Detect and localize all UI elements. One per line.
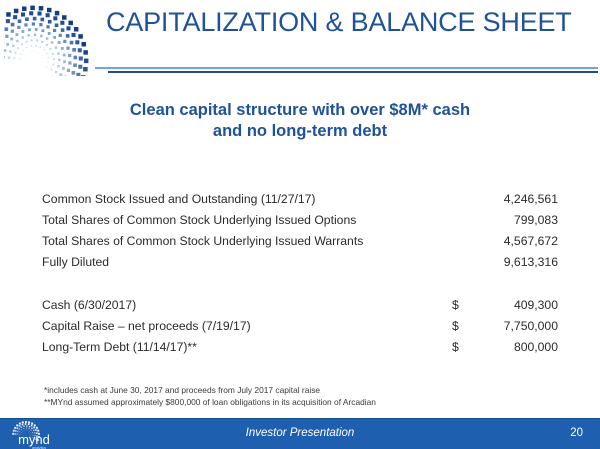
table-row: Long-Term Debt (11/14/17)** $ 800,000 [42, 340, 558, 361]
footnote-line-2: **MYnd assumed approximately $800,000 of… [44, 397, 514, 409]
row-label: Cash (6/30/2017) [42, 298, 452, 312]
row-value: 800,000 [474, 340, 558, 354]
row-label: Total Shares of Common Stock Underlying … [42, 213, 452, 227]
title-rule-light [95, 67, 598, 69]
slide-footer: mynd analytics Investor Presentation 20 [0, 418, 600, 449]
footer-title: Investor Presentation [0, 427, 600, 439]
mynd-fan-logo-icon [4, 2, 96, 76]
slide-subtitle: Clean capital structure with over $8M* c… [60, 100, 540, 142]
page-title: CAPITALIZATION & BALANCE SHEET [106, 6, 586, 39]
row-label: Common Stock Issued and Outstanding (11/… [42, 192, 452, 206]
row-label: Capital Raise – net proceeds (7/19/17) [42, 319, 452, 333]
row-label: Total Shares of Common Stock Underlying … [42, 234, 452, 248]
footnote-line-1: *includes cash at June 30, 2017 and proc… [44, 385, 514, 397]
row-value: 9,613,316 [474, 255, 558, 269]
row-currency: $ [452, 319, 474, 333]
table-row: Cash (6/30/2017) $ 409,300 [42, 298, 558, 319]
footnotes: *includes cash at June 30, 2017 and proc… [44, 385, 514, 408]
row-value: 4,246,561 [474, 192, 558, 206]
capitalization-table: Common Stock Issued and Outstanding (11/… [42, 192, 558, 361]
row-label: Fully Diluted [42, 255, 452, 269]
subtitle-line-2: and no long-term debt [60, 121, 540, 142]
row-label: Long-Term Debt (11/14/17)** [42, 340, 452, 354]
row-currency: $ [452, 298, 474, 312]
row-value: 799,083 [474, 213, 558, 227]
table-row: Total Shares of Common Stock Underlying … [42, 234, 558, 255]
table-row: Capital Raise – net proceeds (7/19/17) $… [42, 319, 558, 340]
row-value: 4,567,672 [474, 234, 558, 248]
row-value: 7,750,000 [474, 319, 558, 333]
table-row: Common Stock Issued and Outstanding (11/… [42, 192, 558, 213]
title-rule-dark [108, 71, 598, 73]
table-group-separator [42, 276, 558, 298]
row-currency: $ [452, 340, 474, 354]
page-number: 20 [570, 427, 583, 439]
row-value: 409,300 [474, 298, 558, 312]
subtitle-line-1: Clean capital structure with over $8M* c… [60, 100, 540, 121]
table-row: Fully Diluted 9,613,316 [42, 255, 558, 276]
slide: CAPITALIZATION & BALANCE SHEET Clean cap… [0, 0, 600, 449]
table-row: Total Shares of Common Stock Underlying … [42, 213, 558, 234]
